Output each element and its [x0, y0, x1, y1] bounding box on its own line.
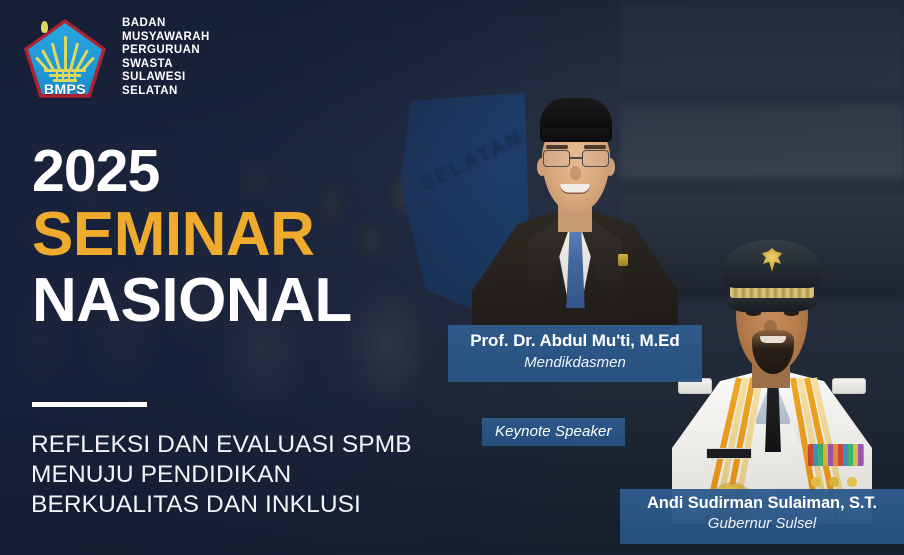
speaker1-nameplate: Prof. Dr. Abdul Mu'ti, M.Ed Mendikdasmen — [448, 325, 702, 382]
speaker2-smile — [760, 336, 786, 343]
headline-seminar: SEMINAR — [32, 202, 452, 268]
speaker2-nameplate: Andi Sudirman Sulaiman, S.T. Gubernur Su… — [620, 489, 904, 544]
speaker1-lapel-pin — [618, 254, 628, 266]
speaker2-nose — [764, 320, 777, 335]
keynote-speaker-badge: Keynote Speaker — [482, 418, 625, 446]
speaker2-epaulette-right — [832, 378, 866, 394]
speaker1-name: Prof. Dr. Abdul Mu'ti, M.Ed — [448, 331, 702, 351]
event-theme: REFLEKSI DAN EVALUASI SPMB MENUJU PENDID… — [31, 430, 461, 520]
speaker2-name: Andi Sudirman Sulaiman, S.T. — [620, 494, 904, 513]
event-headline: 2025 SEMINAR NASIONAL — [32, 140, 452, 334]
theme-line-2: MENUJU PENDIDIKAN — [31, 460, 461, 490]
speaker1-smile — [560, 184, 590, 194]
headline-nasional: NASIONAL — [32, 268, 452, 334]
flame-rays-icon — [45, 28, 85, 70]
org-line-2: MUSYAWARAH — [122, 31, 262, 45]
event-year: 2025 — [32, 140, 452, 202]
org-line-4: SWASTA — [122, 58, 262, 72]
org-line-6: SELATAN — [122, 85, 262, 99]
speaker2-name-badge — [706, 448, 752, 459]
theme-line-1: REFLEKSI DAN EVALUASI SPMB — [31, 430, 461, 460]
speaker2-role: Gubernur Sulsel — [620, 515, 904, 532]
bmps-logo-lockup: BMPS BADAN MUSYAWARAH PERGURUAN SWASTA S… — [24, 17, 234, 119]
speaker1-peci-cap — [540, 98, 612, 142]
bmps-emblem-icon: BMPS — [24, 19, 106, 101]
seminar-poster: SELATAN — [0, 0, 904, 555]
speaker-photo-abdul-muti — [470, 62, 680, 362]
org-line-5: SULAWESI — [122, 71, 262, 85]
theme-line-3: BERKUALITAS DAN INKLUSI — [31, 490, 461, 520]
speaker1-role: Mendikdasmen — [448, 354, 702, 371]
speaker1-nose — [570, 166, 581, 180]
speaker-photo-andi-sudirman — [672, 222, 872, 522]
organization-name: BADAN MUSYAWARAH PERGURUAN SWASTA SULAWE… — [122, 17, 262, 99]
logo-monogram: BMPS — [24, 81, 106, 97]
speaker2-ribbon-bars — [808, 444, 864, 466]
speaker1-eyebrows — [546, 145, 606, 149]
org-line-3: PERGURUAN — [122, 44, 262, 58]
title-divider — [32, 402, 147, 407]
org-line-1: BADAN — [122, 17, 262, 31]
